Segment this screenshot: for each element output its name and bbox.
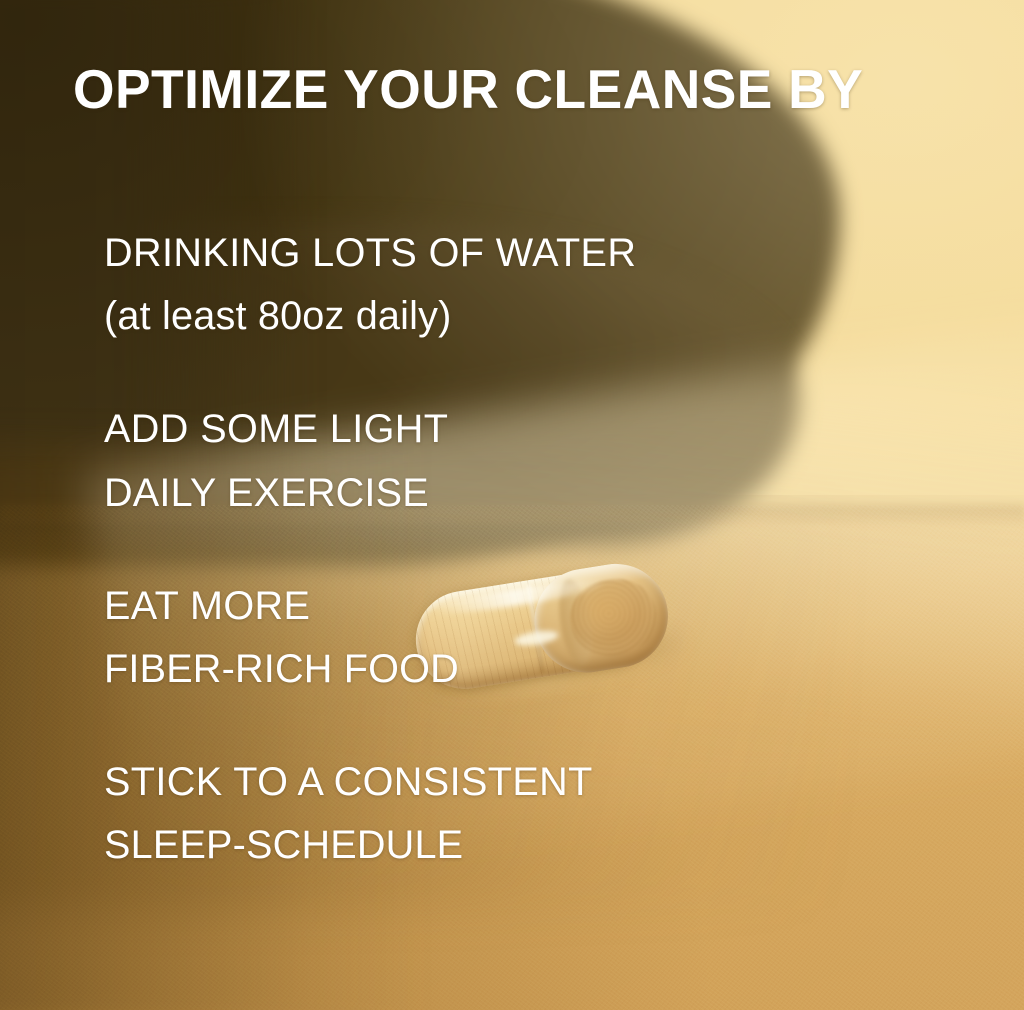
list-item: ADD SOME LIGHT DAILY EXERCISE [104,398,824,524]
poster-image: OPTIMIZE YOUR CLEANSE BY DRINKING LOTS O… [0,0,1024,1010]
tips-list: DRINKING LOTS OF WATER (at least 80oz da… [104,222,824,878]
list-item: STICK TO A CONSISTENT SLEEP-SCHEDULE [104,751,824,877]
tip-line-primary: EAT MORE [104,575,817,638]
text-overlay: OPTIMIZE YOUR CLEANSE BY DRINKING LOTS O… [0,0,1024,1010]
tip-line-primary: ADD SOME LIGHT [104,398,817,461]
tip-line-primary: STICK TO A CONSISTENT [104,751,817,814]
page-title: OPTIMIZE YOUR CLEANSE BY [73,62,863,117]
list-item: EAT MORE FIBER-RICH FOOD [104,575,824,701]
tip-line-secondary: DAILY EXERCISE [104,462,817,525]
tip-line-primary: DRINKING LOTS OF WATER [104,222,817,285]
tip-line-secondary: (at least 80oz daily) [104,285,817,348]
tip-line-secondary: FIBER-RICH FOOD [104,638,817,701]
tip-line-secondary: SLEEP-SCHEDULE [104,814,817,877]
list-item: DRINKING LOTS OF WATER (at least 80oz da… [104,222,824,348]
